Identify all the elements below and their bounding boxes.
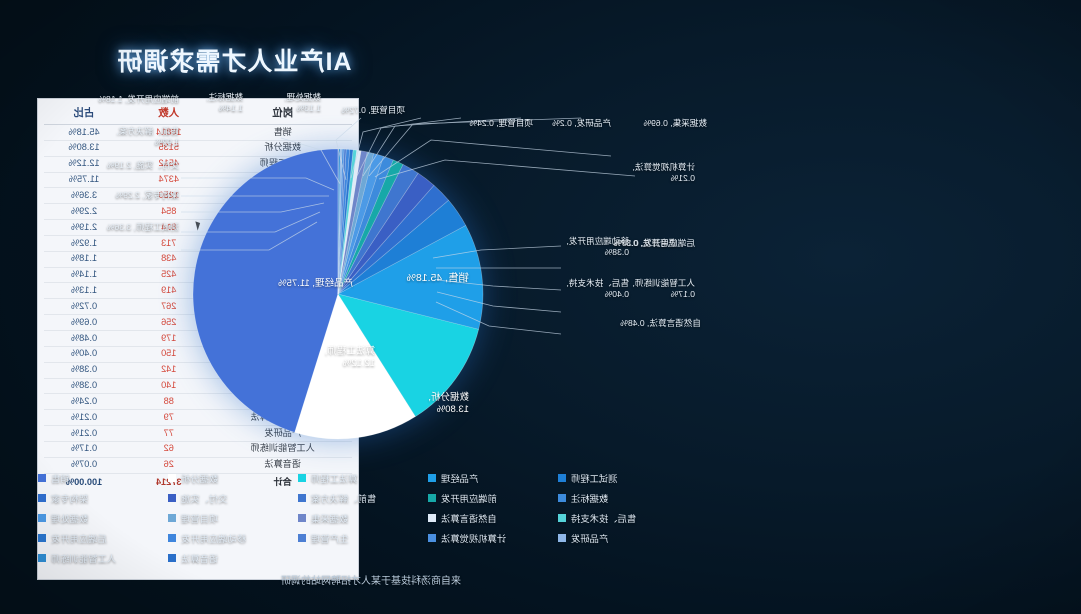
legend-swatch-icon <box>168 534 176 542</box>
page-title: AI产业人才需求调研 <box>109 42 359 78</box>
callout-delivery-implementation: 交付、实施, 2.19% <box>107 160 179 171</box>
callout-data-collection: 数据采集, 0.69% <box>643 118 707 129</box>
pie-chart <box>192 148 484 440</box>
legend-item[interactable]: 数据分析 <box>168 468 296 488</box>
cell-percent: 0.38% <box>44 378 124 394</box>
legend-item-label: 算法工程师 <box>311 471 358 485</box>
legend-item-label: 数据处理 <box>51 511 88 525</box>
legend-swatch-icon <box>38 474 46 482</box>
cell-count: 62 <box>124 441 213 457</box>
cell-percent: 0.38% <box>44 362 124 378</box>
table-row: 人工智能训练师620.17% <box>44 441 352 457</box>
legend-item-label: 产品经理 <box>441 471 478 485</box>
callout-frontend-dev: 前端应用开发, 1.18% <box>98 94 179 105</box>
legend-item[interactable]: 前端应用开发 <box>428 488 556 508</box>
legend-swatch-icon <box>38 534 46 542</box>
legend-item[interactable]: 生产管理 <box>298 528 426 548</box>
callout-presales-solution: 售前、解决方案, 1.92% <box>87 126 179 148</box>
legend-item[interactable]: 产品研发 <box>558 528 686 548</box>
legend-item[interactable]: 计算机视觉算法 <box>428 528 556 548</box>
cell-percent: 11.75% <box>44 172 124 188</box>
cell-position: 人工智能训练师 <box>213 441 352 457</box>
legend-item-label: 数据采集 <box>311 511 348 525</box>
legend-item-label: 销售 <box>51 471 70 485</box>
legend-item-label: 人工智能训练师 <box>51 551 116 565</box>
legend-item[interactable]: 数据处理 <box>38 508 166 528</box>
legend-item[interactable]: 算法工程师 <box>298 468 426 488</box>
cell-percent: 3.36% <box>44 188 124 204</box>
legend-item[interactable]: 数据采集 <box>298 508 426 528</box>
cell-percent: 1.18% <box>44 251 124 267</box>
legend-item-label: 自然语言算法 <box>441 511 497 525</box>
legend-item-label: 后端应用开发 <box>51 531 107 545</box>
legend-item-label: 交付、实施 <box>181 491 228 505</box>
legend-item[interactable]: 交付、实施 <box>168 488 296 508</box>
legend-swatch-icon <box>38 494 46 502</box>
legend-swatch-icon <box>428 514 436 522</box>
cell-percent: 1.13% <box>44 283 124 299</box>
callout-testing-engineer: 测试工程师, 3.36% <box>107 222 179 233</box>
column-header-percent: 占比 <box>44 103 124 125</box>
legend-item[interactable]: 项目管理 <box>168 508 296 528</box>
legend-swatch-icon <box>38 514 46 522</box>
legend-item-label: 产品研发 <box>571 531 608 545</box>
legend-swatch-icon <box>558 514 566 522</box>
legend-item-label: 计算机视觉算法 <box>441 531 506 545</box>
legend-item[interactable]: 售前、解决方案 <box>298 488 426 508</box>
legend-swatch-icon <box>168 514 176 522</box>
cell-percent: 0.40% <box>44 346 124 362</box>
legend-swatch-icon <box>298 494 306 502</box>
legend-item[interactable]: 人工智能训练师 <box>38 548 166 568</box>
legend-item-label: 前端应用开发 <box>441 491 497 505</box>
cell-percent: 0.24% <box>44 394 124 410</box>
legend-swatch-icon <box>428 494 436 502</box>
legend-swatch-icon <box>428 534 436 542</box>
pie-svg <box>192 148 484 440</box>
legend-item[interactable]: 移动端应用开发 <box>168 528 296 548</box>
cell-percent: 0.21% <box>44 410 124 426</box>
callout-data-processing: 数据处理, 1.13% <box>284 92 321 114</box>
legend-item-label: 移动端应用开发 <box>181 531 246 545</box>
callout-architecture-expert: 架构专家, 2.29% <box>115 190 179 201</box>
legend-swatch-icon <box>428 474 436 482</box>
legend-item-label: 数据标注 <box>571 491 608 505</box>
callout-data-annotation: 数据标注, 1.14% <box>206 92 243 114</box>
legend-swatch-icon <box>298 514 306 522</box>
legend-item-label: 售前、解决方案 <box>311 491 376 505</box>
cell-percent: 1.92% <box>44 235 124 251</box>
legend-item-label: 测试工程师 <box>571 471 618 485</box>
legend-swatch-icon <box>558 494 566 502</box>
legend-item[interactable]: 测试工程师 <box>558 468 686 488</box>
legend-swatch-icon <box>558 474 566 482</box>
legend-swatch-icon <box>38 554 46 562</box>
column-header-count: 人数 <box>124 103 213 125</box>
legend-item[interactable]: 数据标注 <box>558 488 686 508</box>
legend-item-label: 生产管理 <box>311 531 348 545</box>
cell-percent: 0.69% <box>44 315 124 331</box>
legend-item[interactable]: 售后、技术支持 <box>558 508 686 528</box>
legend-item[interactable]: 后端应用开发 <box>38 528 166 548</box>
source-note: 来自商汤科技基于某人才招聘网站的调研 <box>201 572 541 587</box>
legend-item-label: 数据分析 <box>181 471 218 485</box>
callout-product-rnd: 产品研发, 0.2% <box>552 118 611 129</box>
legend-swatch-icon <box>298 534 306 542</box>
legend-item[interactable]: 语音算法 <box>168 548 296 568</box>
legend-item-label: 售后、技术支持 <box>571 511 636 525</box>
cell-percent: 0.21% <box>44 426 124 442</box>
legend-swatch-icon <box>168 474 176 482</box>
legend-swatch-icon <box>298 474 306 482</box>
slide-mirror-container: AI产业人才需求调研 岗位 人数 占比 销售1681445.18%数据分析513… <box>0 0 1081 614</box>
legend-item-label: 架构专家 <box>51 491 88 505</box>
callout-project-management-024: 项目管理, 0.24% <box>469 118 533 129</box>
callout-ai-trainer: 人工智能训练师, 0.17% <box>603 278 695 300</box>
legend-item[interactable]: 销售 <box>38 468 166 488</box>
cell-percent: 0.48% <box>44 330 124 346</box>
cell-percent: 1.14% <box>44 267 124 283</box>
legend-item-label: 语音算法 <box>181 551 218 565</box>
cell-percent: 0.72% <box>44 299 124 315</box>
cell-percent: 2.29% <box>44 204 124 220</box>
cell-percent: 0.17% <box>44 441 124 457</box>
legend-item[interactable]: 产品经理 <box>428 468 556 488</box>
cell-position: 销售 <box>213 125 352 141</box>
callout-cv-algorithm: 计算机视觉算法, 0.21% <box>632 162 695 184</box>
legend-item[interactable]: 架构专家 <box>38 488 166 508</box>
legend-item[interactable]: 自然语言算法 <box>428 508 556 528</box>
legend-swatch-icon <box>168 554 176 562</box>
callout-project-management-072: 项目管理, 0.72% <box>341 105 405 116</box>
legend-swatch-icon <box>558 534 566 542</box>
legend-swatch-icon <box>168 494 176 502</box>
callout-nlp-algorithm: 自然语言算法, 0.48% <box>620 318 701 329</box>
chart-legend: 销售数据分析算法工程师产品经理测试工程师架构专家交付、实施售前、解决方案前端应用… <box>38 468 686 568</box>
pie-slices <box>192 148 484 440</box>
callout-mobile-dev: 移动端应用开发, 0.38% <box>537 236 629 258</box>
legend-item-label: 项目管理 <box>181 511 218 525</box>
